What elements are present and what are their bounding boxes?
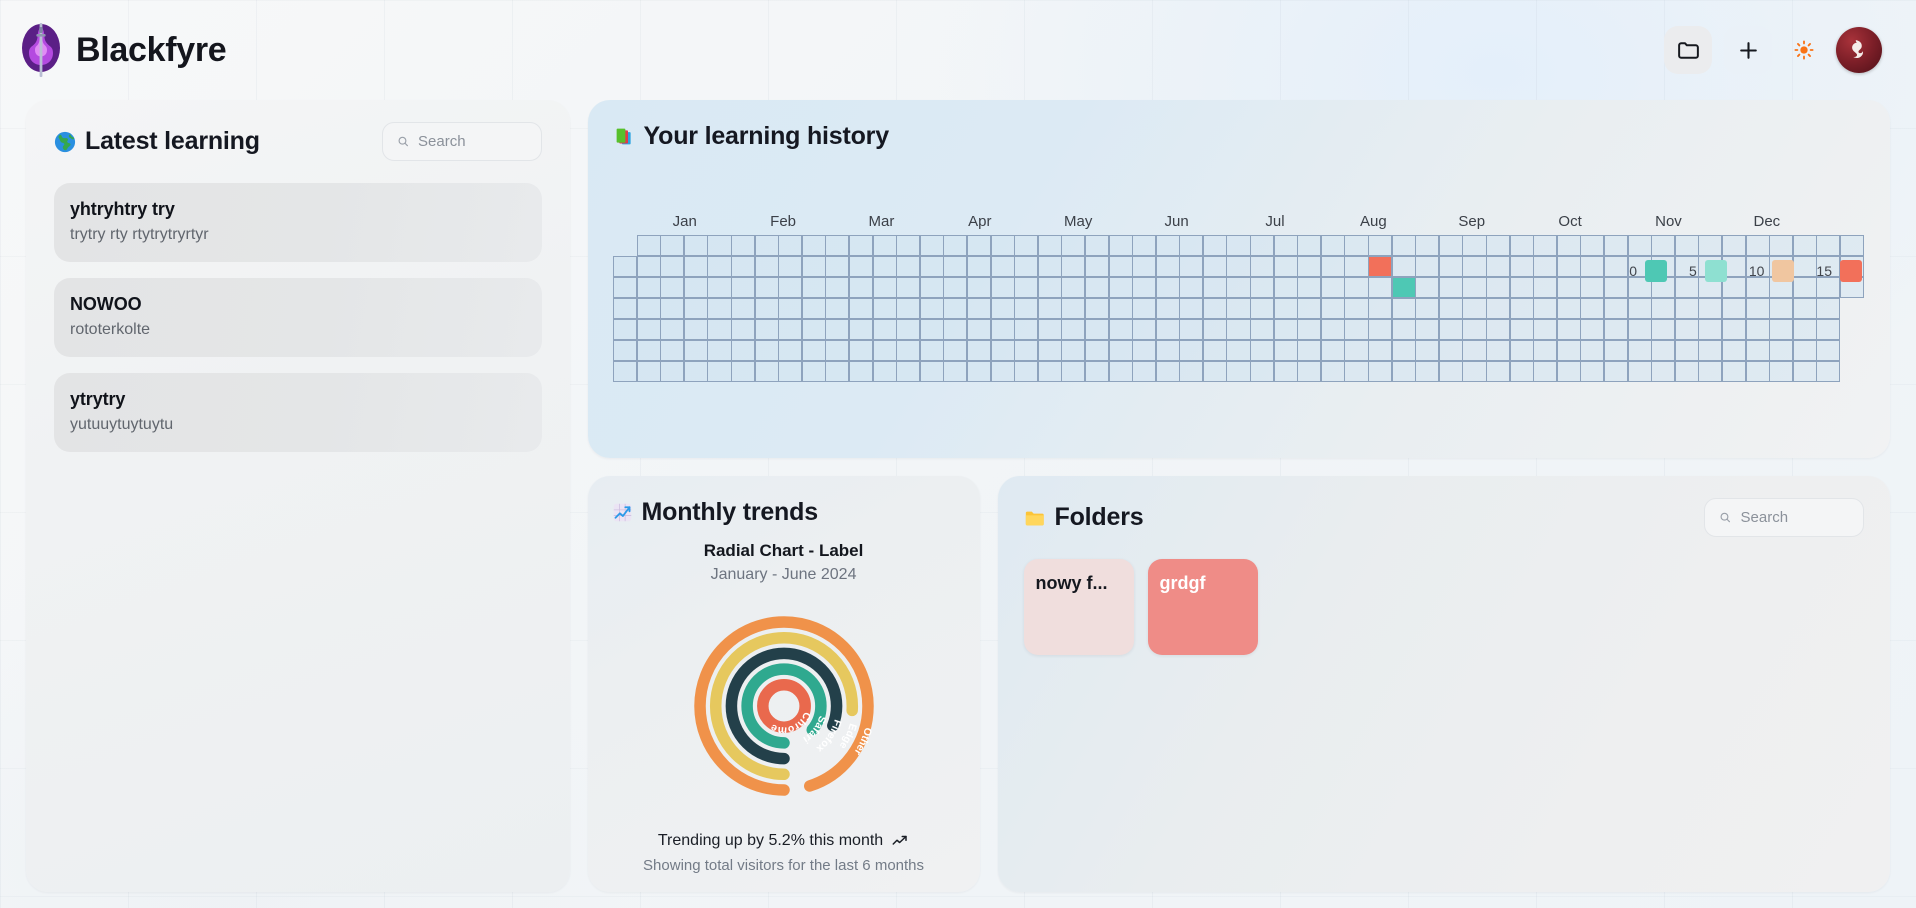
heatmap-cell[interactable]: [849, 319, 873, 341]
heatmap-cell[interactable]: [1297, 319, 1321, 341]
heatmap-cell[interactable]: [1321, 319, 1345, 341]
heatmap-cell[interactable]: [707, 319, 731, 341]
heatmap-cell[interactable]: [967, 319, 991, 341]
heatmap-cell[interactable]: [1109, 340, 1133, 362]
heatmap-cell[interactable]: [1297, 340, 1321, 362]
heatmap-cell[interactable]: [637, 319, 661, 341]
heatmap-cell[interactable]: [825, 298, 849, 320]
brand[interactable]: Blackfyre: [18, 22, 226, 78]
heatmap-cell[interactable]: [896, 319, 920, 341]
heatmap-cell[interactable]: [1557, 361, 1581, 383]
heatmap-cell[interactable]: [1344, 340, 1368, 362]
heatmap-cell[interactable]: [1368, 319, 1392, 341]
heatmap-cell[interactable]: [849, 256, 873, 278]
heatmap-cell[interactable]: [660, 298, 684, 320]
heatmap-cell[interactable]: [1038, 340, 1062, 362]
heatmap-cell[interactable]: [1132, 361, 1156, 383]
heatmap-cell[interactable]: [1274, 277, 1298, 299]
heatmap-cell[interactable]: [1085, 361, 1109, 383]
heatmap-cell[interactable]: [1722, 298, 1746, 320]
heatmap-cell[interactable]: [943, 319, 967, 341]
heatmap-cell[interactable]: [1179, 319, 1203, 341]
heatmap-cell[interactable]: [1321, 235, 1345, 257]
heatmap-cell[interactable]: [1014, 235, 1038, 257]
heatmap-cell[interactable]: [637, 277, 661, 299]
heatmap-cell[interactable]: [1321, 361, 1345, 383]
heatmap-cell[interactable]: [1604, 340, 1628, 362]
heatmap-cell[interactable]: [684, 319, 708, 341]
heatmap-cell[interactable]: [802, 235, 826, 257]
heatmap-cell[interactable]: [896, 235, 920, 257]
theme-toggle-button[interactable]: [1784, 26, 1824, 74]
heatmap-cell[interactable]: [1061, 277, 1085, 299]
heatmap-cell[interactable]: [1321, 277, 1345, 299]
heatmap-cell[interactable]: [967, 361, 991, 383]
heatmap-cell[interactable]: [684, 340, 708, 362]
heatmap-cell[interactable]: [660, 256, 684, 278]
heatmap-cell[interactable]: [755, 277, 779, 299]
heatmap-cell[interactable]: [1344, 361, 1368, 383]
heatmap-cell[interactable]: [1675, 361, 1699, 383]
heatmap-cell[interactable]: [660, 361, 684, 383]
heatmap-cell[interactable]: [1109, 256, 1133, 278]
heatmap-cell[interactable]: [1203, 319, 1227, 341]
heatmap-cell[interactable]: [1675, 298, 1699, 320]
heatmap-cell[interactable]: [1557, 319, 1581, 341]
heatmap-cell[interactable]: [943, 277, 967, 299]
heatmap-cell[interactable]: [1274, 256, 1298, 278]
heatmap-cell[interactable]: [1439, 298, 1463, 320]
heatmap-cell[interactable]: [1156, 319, 1180, 341]
heatmap-cell[interactable]: [707, 256, 731, 278]
heatmap-cell[interactable]: [896, 277, 920, 299]
heatmap-cell[interactable]: [1038, 256, 1062, 278]
heatmap-cell[interactable]: [1392, 319, 1416, 341]
heatmap-cell[interactable]: [896, 361, 920, 383]
heatmap-cell[interactable]: [967, 256, 991, 278]
heatmap-cell[interactable]: [1698, 361, 1722, 383]
heatmap-cell[interactable]: [873, 319, 897, 341]
heatmap-cell[interactable]: [1604, 319, 1628, 341]
heatmap-cell[interactable]: [873, 235, 897, 257]
heatmap-cell[interactable]: [778, 256, 802, 278]
heatmap-cell[interactable]: [1651, 235, 1675, 257]
heatmap-cell[interactable]: [1651, 319, 1675, 341]
heatmap-cell[interactable]: [1486, 340, 1510, 362]
heatmap-cell[interactable]: [1392, 277, 1416, 299]
heatmap-cell[interactable]: [778, 277, 802, 299]
heatmap-cell[interactable]: [1344, 256, 1368, 278]
heatmap-cell[interactable]: [637, 340, 661, 362]
heatmap-cell[interactable]: [1250, 235, 1274, 257]
heatmap-cell[interactable]: [991, 340, 1015, 362]
list-item[interactable]: NOWOO rototerkolte: [54, 278, 542, 357]
heatmap-cell[interactable]: [1085, 256, 1109, 278]
heatmap-cell[interactable]: [1085, 235, 1109, 257]
heatmap-cell[interactable]: [1061, 256, 1085, 278]
heatmap-cell[interactable]: [1462, 361, 1486, 383]
heatmap-cell[interactable]: [1793, 319, 1817, 341]
heatmap-cell[interactable]: [1580, 361, 1604, 383]
heatmap-cell[interactable]: [1415, 319, 1439, 341]
heatmap-cell[interactable]: [755, 256, 779, 278]
heatmap-cell[interactable]: [1793, 361, 1817, 383]
heatmap-cell[interactable]: [1439, 340, 1463, 362]
heatmap-cell[interactable]: [613, 340, 637, 362]
heatmap-cell[interactable]: [1439, 361, 1463, 383]
heatmap-cell[interactable]: [967, 277, 991, 299]
heatmap-cell[interactable]: [1675, 319, 1699, 341]
heatmap-cell[interactable]: [1297, 277, 1321, 299]
user-avatar[interactable]: [1836, 27, 1882, 73]
heatmap-cell[interactable]: [707, 235, 731, 257]
heatmap-cell[interactable]: [1203, 277, 1227, 299]
heatmap-cell[interactable]: [1486, 235, 1510, 257]
learning-heatmap[interactable]: [614, 235, 1864, 382]
heatmap-cell[interactable]: [825, 235, 849, 257]
heatmap-cell[interactable]: [1415, 340, 1439, 362]
heatmap-cell[interactable]: [849, 298, 873, 320]
heatmap-cell[interactable]: [1816, 319, 1840, 341]
heatmap-cell[interactable]: [1344, 319, 1368, 341]
heatmap-cell[interactable]: [1557, 340, 1581, 362]
heatmap-cell[interactable]: [1675, 235, 1699, 257]
heatmap-cell[interactable]: [1226, 256, 1250, 278]
heatmap-cell[interactable]: [1628, 235, 1652, 257]
heatmap-cell[interactable]: [1698, 235, 1722, 257]
heatmap-cell[interactable]: [967, 340, 991, 362]
heatmap-cell[interactable]: [1604, 277, 1628, 299]
heatmap-cell[interactable]: [1698, 340, 1722, 362]
heatmap-cell[interactable]: [731, 235, 755, 257]
heatmap-cell[interactable]: [1061, 361, 1085, 383]
heatmap-cell[interactable]: [1038, 319, 1062, 341]
heatmap-cell[interactable]: [1486, 277, 1510, 299]
heatmap-cell[interactable]: [1109, 361, 1133, 383]
heatmap-cell[interactable]: [731, 340, 755, 362]
heatmap-cell[interactable]: [1698, 298, 1722, 320]
heatmap-cell[interactable]: [1840, 361, 1864, 383]
heatmap-cell[interactable]: [707, 340, 731, 362]
heatmap-cell[interactable]: [1156, 256, 1180, 278]
heatmap-cell[interactable]: [1179, 277, 1203, 299]
heatmap-cell[interactable]: [1109, 235, 1133, 257]
heatmap-cell[interactable]: [1014, 277, 1038, 299]
heatmap-cell[interactable]: [920, 340, 944, 362]
heatmap-cell[interactable]: [613, 298, 637, 320]
heatmap-cell[interactable]: [1132, 340, 1156, 362]
heatmap-cell[interactable]: [849, 235, 873, 257]
folder-button[interactable]: [1664, 26, 1712, 74]
heatmap-cell[interactable]: [873, 298, 897, 320]
heatmap-cell[interactable]: [731, 319, 755, 341]
heatmap-cell[interactable]: [1014, 256, 1038, 278]
heatmap-cell[interactable]: [1203, 361, 1227, 383]
heatmap-cell[interactable]: [1274, 340, 1298, 362]
heatmap-cell[interactable]: [1580, 319, 1604, 341]
heatmap-cell[interactable]: [967, 298, 991, 320]
heatmap-cell[interactable]: [802, 277, 826, 299]
heatmap-cell[interactable]: [1462, 298, 1486, 320]
heatmap-cell[interactable]: [613, 319, 637, 341]
heatmap-cell[interactable]: [825, 340, 849, 362]
heatmap-cell[interactable]: [755, 235, 779, 257]
heatmap-cell[interactable]: [1746, 319, 1770, 341]
heatmap-cell[interactable]: [991, 256, 1015, 278]
heatmap-cell[interactable]: [1061, 298, 1085, 320]
heatmap-cell[interactable]: [1746, 235, 1770, 257]
heatmap-cell[interactable]: [991, 319, 1015, 341]
heatmap-cell[interactable]: [1392, 235, 1416, 257]
heatmap-cell[interactable]: [825, 361, 849, 383]
heatmap-cell[interactable]: [637, 235, 661, 257]
heatmap-cell[interactable]: [1769, 298, 1793, 320]
heatmap-cell[interactable]: [1297, 298, 1321, 320]
heatmap-cell[interactable]: [1722, 319, 1746, 341]
heatmap-cell[interactable]: [1368, 256, 1392, 278]
heatmap-cell[interactable]: [778, 319, 802, 341]
heatmap-cell[interactable]: [1628, 361, 1652, 383]
heatmap-cell[interactable]: [1109, 298, 1133, 320]
heatmap-cell[interactable]: [1722, 361, 1746, 383]
heatmap-cell[interactable]: [1415, 277, 1439, 299]
heatmap-cell[interactable]: [920, 298, 944, 320]
heatmap-cell[interactable]: [896, 256, 920, 278]
heatmap-cell[interactable]: [1085, 277, 1109, 299]
heatmap-cell[interactable]: [1132, 298, 1156, 320]
heatmap-cell[interactable]: [1510, 361, 1534, 383]
heatmap-cell[interactable]: [1014, 340, 1038, 362]
heatmap-cell[interactable]: [731, 256, 755, 278]
heatmap-cell[interactable]: [1698, 319, 1722, 341]
heatmap-cell[interactable]: [1061, 340, 1085, 362]
heatmap-cell[interactable]: [1722, 235, 1746, 257]
heatmap-cell[interactable]: [1368, 235, 1392, 257]
heatmap-cell[interactable]: [802, 340, 826, 362]
heatmap-cell[interactable]: [1156, 340, 1180, 362]
heatmap-cell[interactable]: [1156, 277, 1180, 299]
heatmap-cell[interactable]: [1014, 298, 1038, 320]
heatmap-cell[interactable]: [1321, 256, 1345, 278]
heatmap-cell[interactable]: [1274, 361, 1298, 383]
heatmap-cell[interactable]: [920, 319, 944, 341]
heatmap-cell[interactable]: [943, 298, 967, 320]
heatmap-cell[interactable]: [1250, 361, 1274, 383]
heatmap-cell[interactable]: [1368, 340, 1392, 362]
heatmap-cell[interactable]: [1557, 256, 1581, 278]
heatmap-cell[interactable]: [825, 277, 849, 299]
heatmap-cell[interactable]: [1368, 298, 1392, 320]
heatmap-cell[interactable]: [778, 235, 802, 257]
heatmap-cell[interactable]: [1274, 319, 1298, 341]
heatmap-cell[interactable]: [1486, 298, 1510, 320]
heatmap-cell[interactable]: [825, 319, 849, 341]
heatmap-cell[interactable]: [731, 298, 755, 320]
heatmap-cell[interactable]: [637, 256, 661, 278]
heatmap-cell[interactable]: [1462, 319, 1486, 341]
heatmap-cell[interactable]: [1038, 235, 1062, 257]
heatmap-cell[interactable]: [920, 256, 944, 278]
heatmap-cell[interactable]: [778, 298, 802, 320]
heatmap-cell[interactable]: [778, 340, 802, 362]
heatmap-cell[interactable]: [1816, 235, 1840, 257]
heatmap-cell[interactable]: [849, 340, 873, 362]
heatmap-cell[interactable]: [943, 361, 967, 383]
latest-learning-search-input[interactable]: [418, 133, 526, 150]
heatmap-cell[interactable]: [1486, 319, 1510, 341]
heatmap-cell[interactable]: [684, 361, 708, 383]
radial-chart[interactable]: ChromeSafariFirefoxEdgeOther: [612, 580, 956, 832]
heatmap-cell[interactable]: [1462, 256, 1486, 278]
heatmap-cell[interactable]: [1580, 298, 1604, 320]
heatmap-cell[interactable]: [1179, 298, 1203, 320]
heatmap-cell[interactable]: [1510, 277, 1534, 299]
heatmap-cell[interactable]: [1297, 235, 1321, 257]
heatmap-cell[interactable]: [1226, 319, 1250, 341]
heatmap-cell[interactable]: [1604, 256, 1628, 278]
heatmap-cell[interactable]: [1250, 298, 1274, 320]
heatmap-cell[interactable]: [1793, 298, 1817, 320]
heatmap-cell[interactable]: [1462, 235, 1486, 257]
heatmap-cell[interactable]: [1769, 340, 1793, 362]
heatmap-cell[interactable]: [1628, 298, 1652, 320]
heatmap-cell[interactable]: [1226, 235, 1250, 257]
heatmap-cell[interactable]: [778, 361, 802, 383]
heatmap-cell[interactable]: [1604, 361, 1628, 383]
heatmap-cell[interactable]: [991, 298, 1015, 320]
heatmap-cell[interactable]: [1203, 340, 1227, 362]
add-button[interactable]: [1724, 26, 1772, 74]
heatmap-cell[interactable]: [1085, 319, 1109, 341]
heatmap-cell[interactable]: [684, 235, 708, 257]
heatmap-cell[interactable]: [1510, 235, 1534, 257]
heatmap-cell[interactable]: [849, 277, 873, 299]
heatmap-cell[interactable]: [1274, 235, 1298, 257]
heatmap-cell[interactable]: [707, 277, 731, 299]
heatmap-cell[interactable]: [1415, 361, 1439, 383]
heatmap-cell[interactable]: [943, 256, 967, 278]
heatmap-cell[interactable]: [1203, 298, 1227, 320]
heatmap-cell[interactable]: [943, 235, 967, 257]
heatmap-cell[interactable]: [1462, 340, 1486, 362]
heatmap-cell[interactable]: [684, 277, 708, 299]
heatmap-cell[interactable]: [1415, 298, 1439, 320]
heatmap-cell[interactable]: [1014, 361, 1038, 383]
heatmap-cell[interactable]: [991, 235, 1015, 257]
heatmap-cell[interactable]: [1226, 298, 1250, 320]
heatmap-cell[interactable]: [1392, 298, 1416, 320]
heatmap-cell[interactable]: [1392, 256, 1416, 278]
heatmap-cell[interactable]: [1321, 340, 1345, 362]
folder-card[interactable]: nowy f...: [1024, 559, 1134, 655]
heatmap-cell[interactable]: [1085, 298, 1109, 320]
heatmap-cell[interactable]: [1840, 298, 1864, 320]
folders-search-input[interactable]: [1741, 509, 1849, 526]
heatmap-cell[interactable]: [1392, 361, 1416, 383]
heatmap-cell[interactable]: [1769, 361, 1793, 383]
heatmap-cell[interactable]: [1793, 340, 1817, 362]
folders-search[interactable]: [1704, 498, 1864, 537]
heatmap-cell[interactable]: [1651, 361, 1675, 383]
heatmap-cell[interactable]: [1533, 340, 1557, 362]
heatmap-cell[interactable]: [802, 361, 826, 383]
heatmap-cell[interactable]: [637, 361, 661, 383]
heatmap-cell[interactable]: [1840, 340, 1864, 362]
heatmap-cell[interactable]: [1156, 361, 1180, 383]
heatmap-cell[interactable]: [967, 235, 991, 257]
heatmap-cell[interactable]: [707, 298, 731, 320]
heatmap-cell[interactable]: [1014, 319, 1038, 341]
heatmap-cell[interactable]: [1250, 340, 1274, 362]
heatmap-cell[interactable]: [1392, 340, 1416, 362]
heatmap-cell[interactable]: [1415, 256, 1439, 278]
heatmap-cell[interactable]: [1557, 298, 1581, 320]
heatmap-cell[interactable]: [1226, 361, 1250, 383]
heatmap-cell[interactable]: [1109, 277, 1133, 299]
list-item[interactable]: yhtryhtry try trytry rty rtytrytryrtyr: [54, 183, 542, 262]
heatmap-cell[interactable]: [1250, 277, 1274, 299]
heatmap-cell[interactable]: [1321, 298, 1345, 320]
heatmap-cell[interactable]: [1297, 256, 1321, 278]
heatmap-cell[interactable]: [1179, 235, 1203, 257]
heatmap-cell[interactable]: [1510, 298, 1534, 320]
heatmap-cell[interactable]: [1274, 298, 1298, 320]
heatmap-cell[interactable]: [1368, 361, 1392, 383]
heatmap-cell[interactable]: [1439, 256, 1463, 278]
heatmap-cell[interactable]: [1651, 340, 1675, 362]
heatmap-cell[interactable]: [1769, 319, 1793, 341]
list-item[interactable]: ytrytry yutuuytuytuytu: [54, 373, 542, 452]
heatmap-cell[interactable]: [1533, 361, 1557, 383]
heatmap-cell[interactable]: [802, 298, 826, 320]
heatmap-cell[interactable]: [1533, 277, 1557, 299]
heatmap-cell[interactable]: [1038, 277, 1062, 299]
heatmap-cell[interactable]: [873, 361, 897, 383]
heatmap-cell[interactable]: [1580, 340, 1604, 362]
heatmap-cell[interactable]: [920, 235, 944, 257]
heatmap-cell[interactable]: [1651, 298, 1675, 320]
heatmap-cell[interactable]: [991, 361, 1015, 383]
heatmap-cell[interactable]: [896, 340, 920, 362]
heatmap-cell[interactable]: [1557, 235, 1581, 257]
heatmap-cell[interactable]: [1439, 235, 1463, 257]
heatmap-cell[interactable]: [1344, 298, 1368, 320]
heatmap-cell[interactable]: [1415, 235, 1439, 257]
heatmap-cell[interactable]: [613, 256, 637, 278]
heatmap-cell[interactable]: [1085, 340, 1109, 362]
latest-learning-search[interactable]: [382, 122, 542, 161]
heatmap-cell[interactable]: [1533, 235, 1557, 257]
heatmap-cell[interactable]: [1061, 319, 1085, 341]
heatmap-cell[interactable]: [1132, 319, 1156, 341]
heatmap-cell[interactable]: [1722, 340, 1746, 362]
heatmap-cell[interactable]: [1486, 256, 1510, 278]
heatmap-cell[interactable]: [1793, 235, 1817, 257]
heatmap-cell[interactable]: [1816, 298, 1840, 320]
heatmap-cell[interactable]: [1203, 256, 1227, 278]
heatmap-cell[interactable]: [1533, 256, 1557, 278]
heatmap-cell[interactable]: [1628, 340, 1652, 362]
heatmap-cell[interactable]: [1297, 361, 1321, 383]
heatmap-cell[interactable]: [1132, 256, 1156, 278]
heatmap-cell[interactable]: [991, 277, 1015, 299]
heatmap-cell[interactable]: [1061, 235, 1085, 257]
heatmap-cell[interactable]: [1746, 340, 1770, 362]
heatmap-cell[interactable]: [1179, 256, 1203, 278]
heatmap-cell[interactable]: [873, 277, 897, 299]
heatmap-cell[interactable]: [637, 298, 661, 320]
heatmap-cell[interactable]: [1344, 235, 1368, 257]
